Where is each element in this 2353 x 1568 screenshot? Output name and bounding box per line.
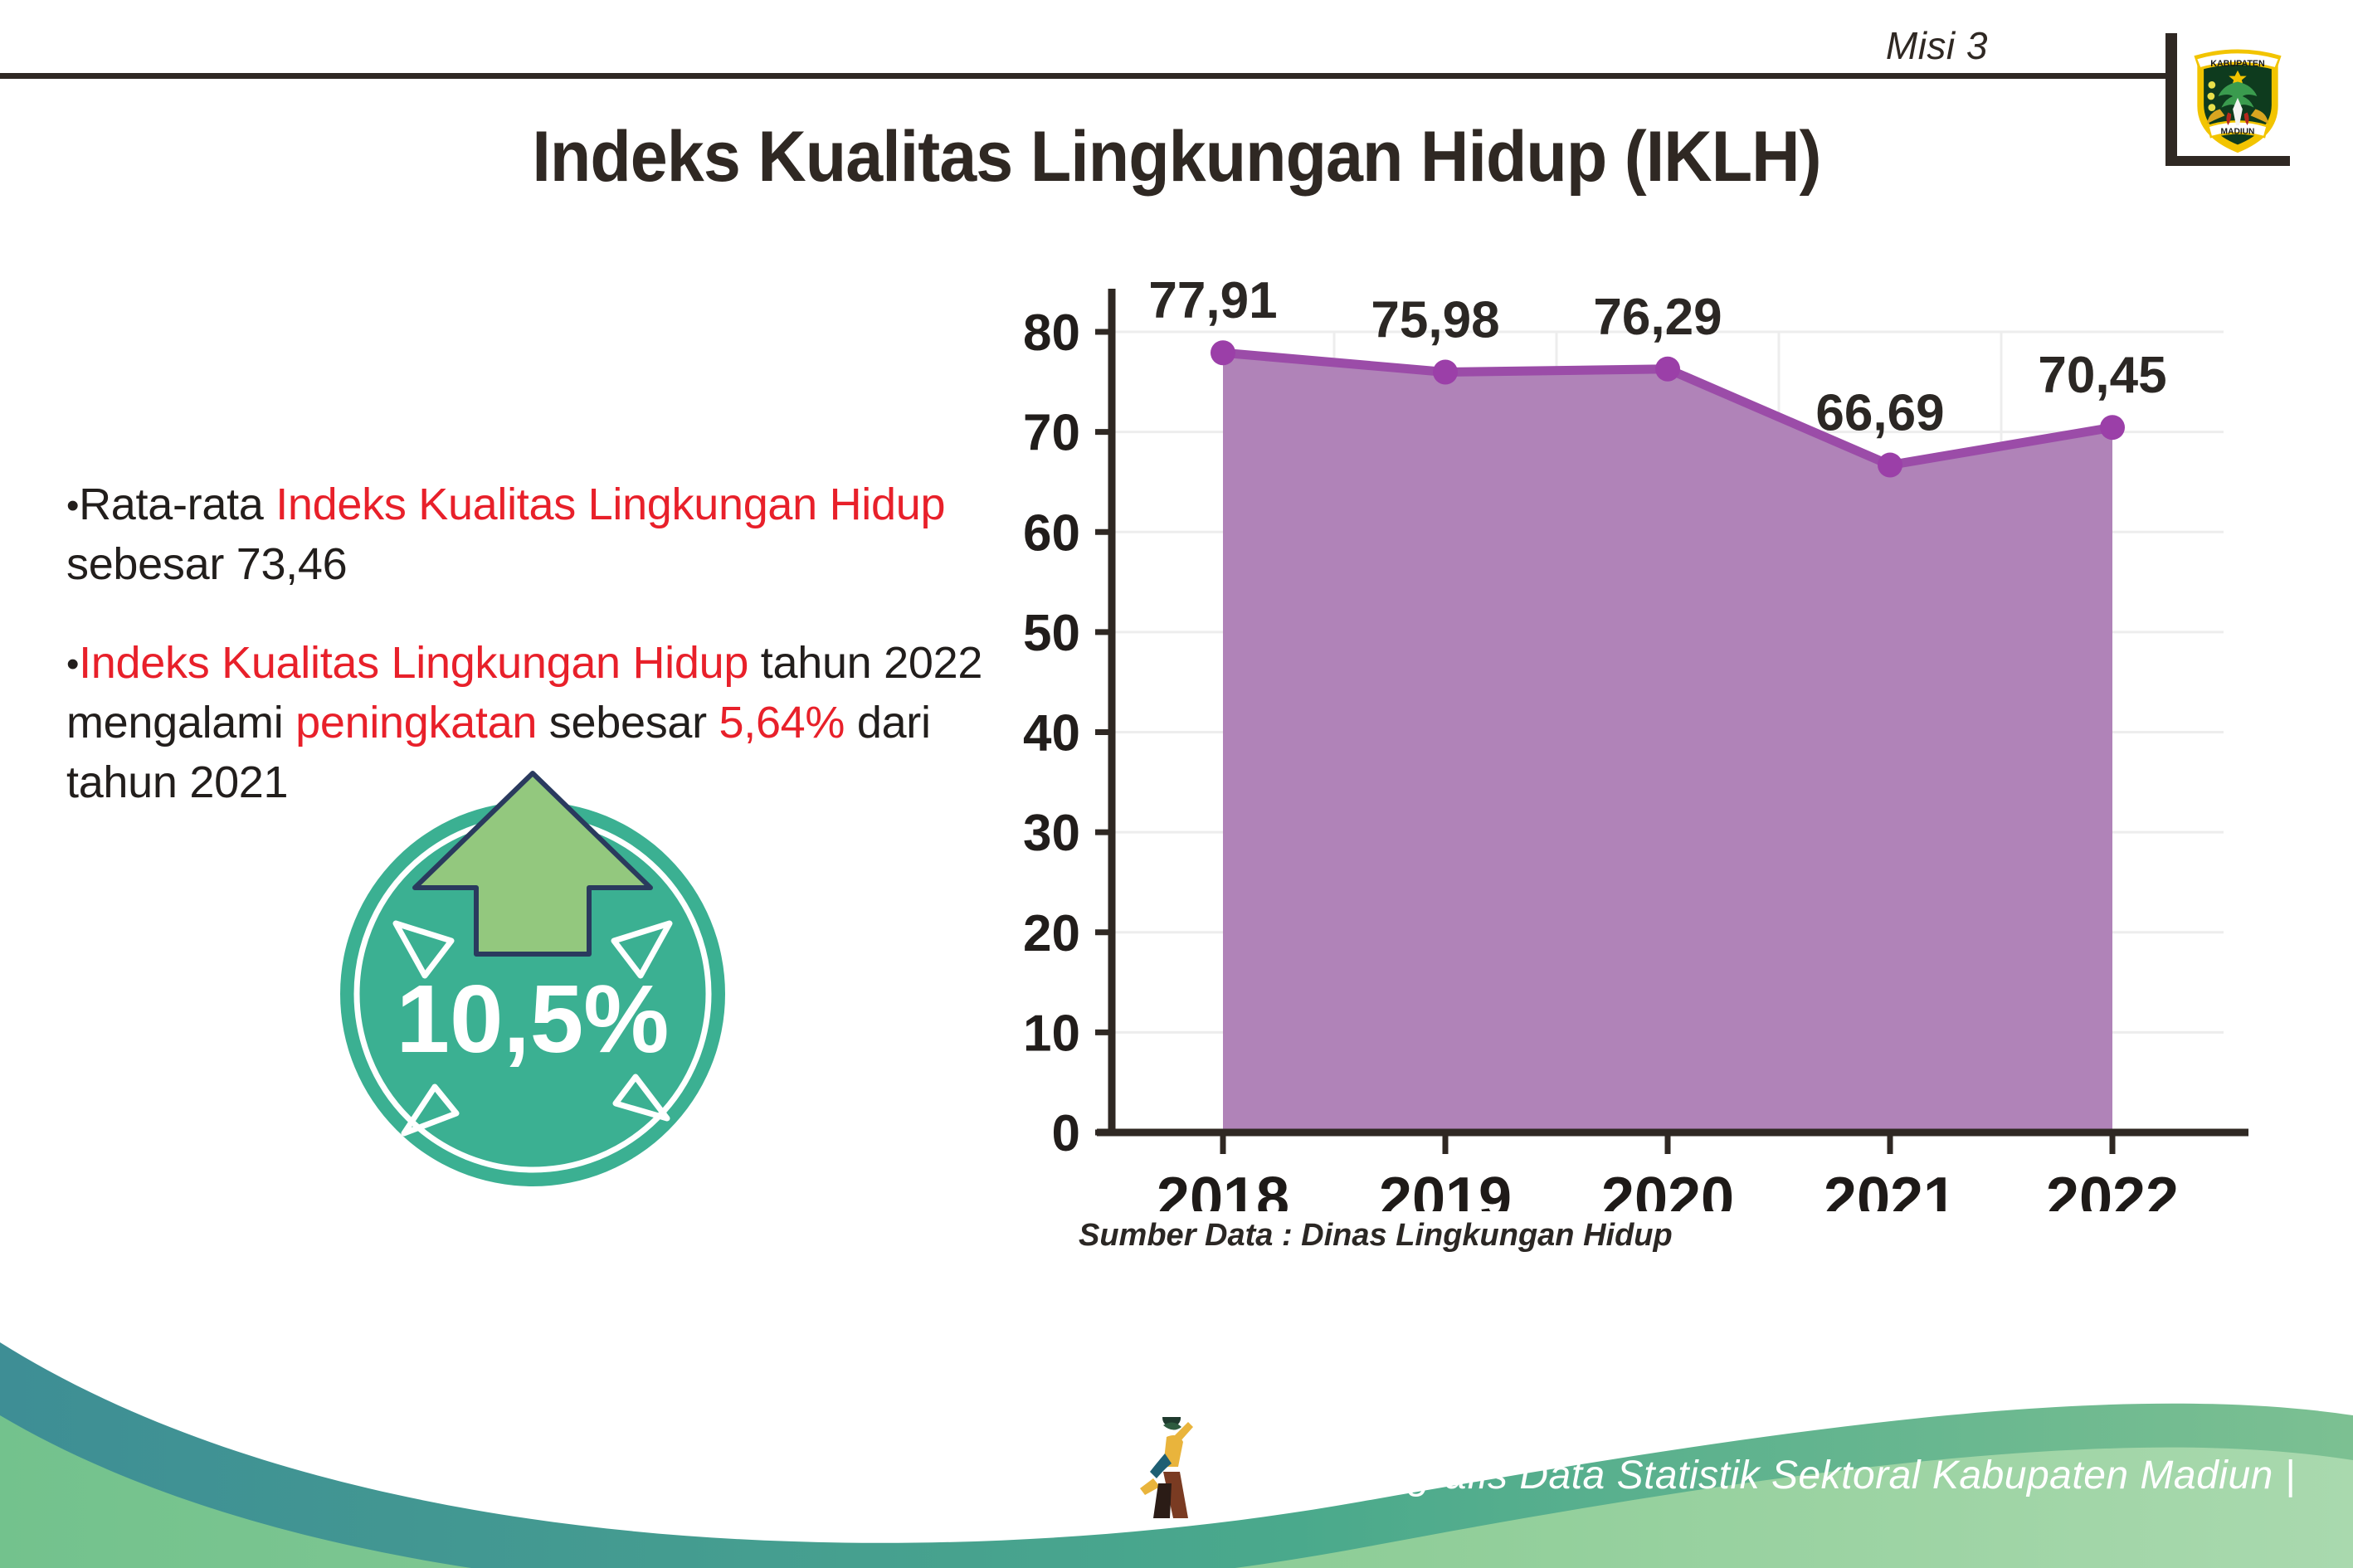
infographic-canvas: Misi 3 KABUPATEN MADIUN Indeks Kuali — [0, 0, 2353, 1568]
x-axis-label: 2022 — [2046, 1166, 2179, 1211]
bullet-text: sebesar 73,46 — [66, 539, 347, 589]
bullet-highlight-text: Indeks Kualitas Lingkungan Hidup — [275, 480, 945, 529]
y-axis-label: 10 — [1023, 1005, 1080, 1062]
area-fill — [1223, 353, 2112, 1132]
data-point-marker[interactable] — [2100, 415, 2125, 440]
data-point-label: 76,29 — [1593, 289, 1722, 346]
y-axis-label: 0 — [1052, 1105, 1080, 1162]
bullet-marker: • — [66, 485, 79, 526]
badge-value: 10,5% — [397, 965, 670, 1073]
data-point-label: 75,98 — [1371, 291, 1499, 348]
misi-label: Misi 3 — [1886, 23, 1988, 68]
data-point-marker[interactable] — [1433, 359, 1458, 384]
y-axis-label: 20 — [1023, 905, 1080, 962]
bullet-highlight-text: Indeks Kualitas Lingkungan Hidup — [79, 638, 748, 688]
data-point-label: 70,45 — [2038, 347, 2166, 404]
data-point-label: 77,91 — [1148, 274, 1277, 329]
source-note: Sumber Data : Dinas Lingkungan Hidup — [1079, 1218, 1673, 1254]
x-axis-label: 2019 — [1379, 1166, 1512, 1211]
chart-svg: 77,9175,9876,2966,6970,45010203040506070… — [979, 274, 2273, 1211]
iklh-area-chart: 77,9175,9876,2966,6970,45010203040506070… — [979, 274, 2273, 1211]
bullet-highlight-text: peningkatan — [295, 698, 537, 747]
y-axis-label: 50 — [1023, 605, 1080, 662]
header-divider — [0, 73, 2170, 79]
y-axis-label: 40 — [1023, 705, 1080, 762]
bullet-highlight-text: 5,64% — [719, 698, 845, 747]
y-axis-label: 30 — [1023, 805, 1080, 862]
bullet-text: Rata-rata — [79, 480, 275, 529]
data-point-label: 66,69 — [1815, 385, 1944, 442]
bullet-marker: • — [66, 644, 79, 684]
svg-text:KABUPATEN: KABUPATEN — [2210, 59, 2265, 69]
statistics-figure-icon — [1138, 1417, 1218, 1522]
page-title: Indeks Kualitas Lingkungan Hidup (IKLH) — [71, 116, 2282, 198]
bullet-text: sebesar — [537, 698, 719, 747]
y-axis-label: 80 — [1023, 304, 1080, 362]
data-point-marker[interactable] — [1878, 453, 1902, 478]
increase-badge: 10,5% — [325, 762, 740, 1201]
footer-caption: Media Infografis Data Statistik Sektoral… — [1218, 1453, 2296, 1498]
data-point-marker[interactable] — [1211, 340, 1235, 365]
data-point-marker[interactable] — [1655, 357, 1680, 382]
x-axis-label: 2020 — [1601, 1166, 1734, 1211]
x-axis-label: 2021 — [1824, 1166, 1956, 1211]
bullet-item-0: •Rata-rata Indeks Kualitas Lingkungan Hi… — [66, 475, 996, 595]
y-axis-label: 70 — [1023, 405, 1080, 462]
x-axis-label: 2018 — [1157, 1166, 1289, 1211]
y-axis-label: 60 — [1023, 504, 1080, 562]
